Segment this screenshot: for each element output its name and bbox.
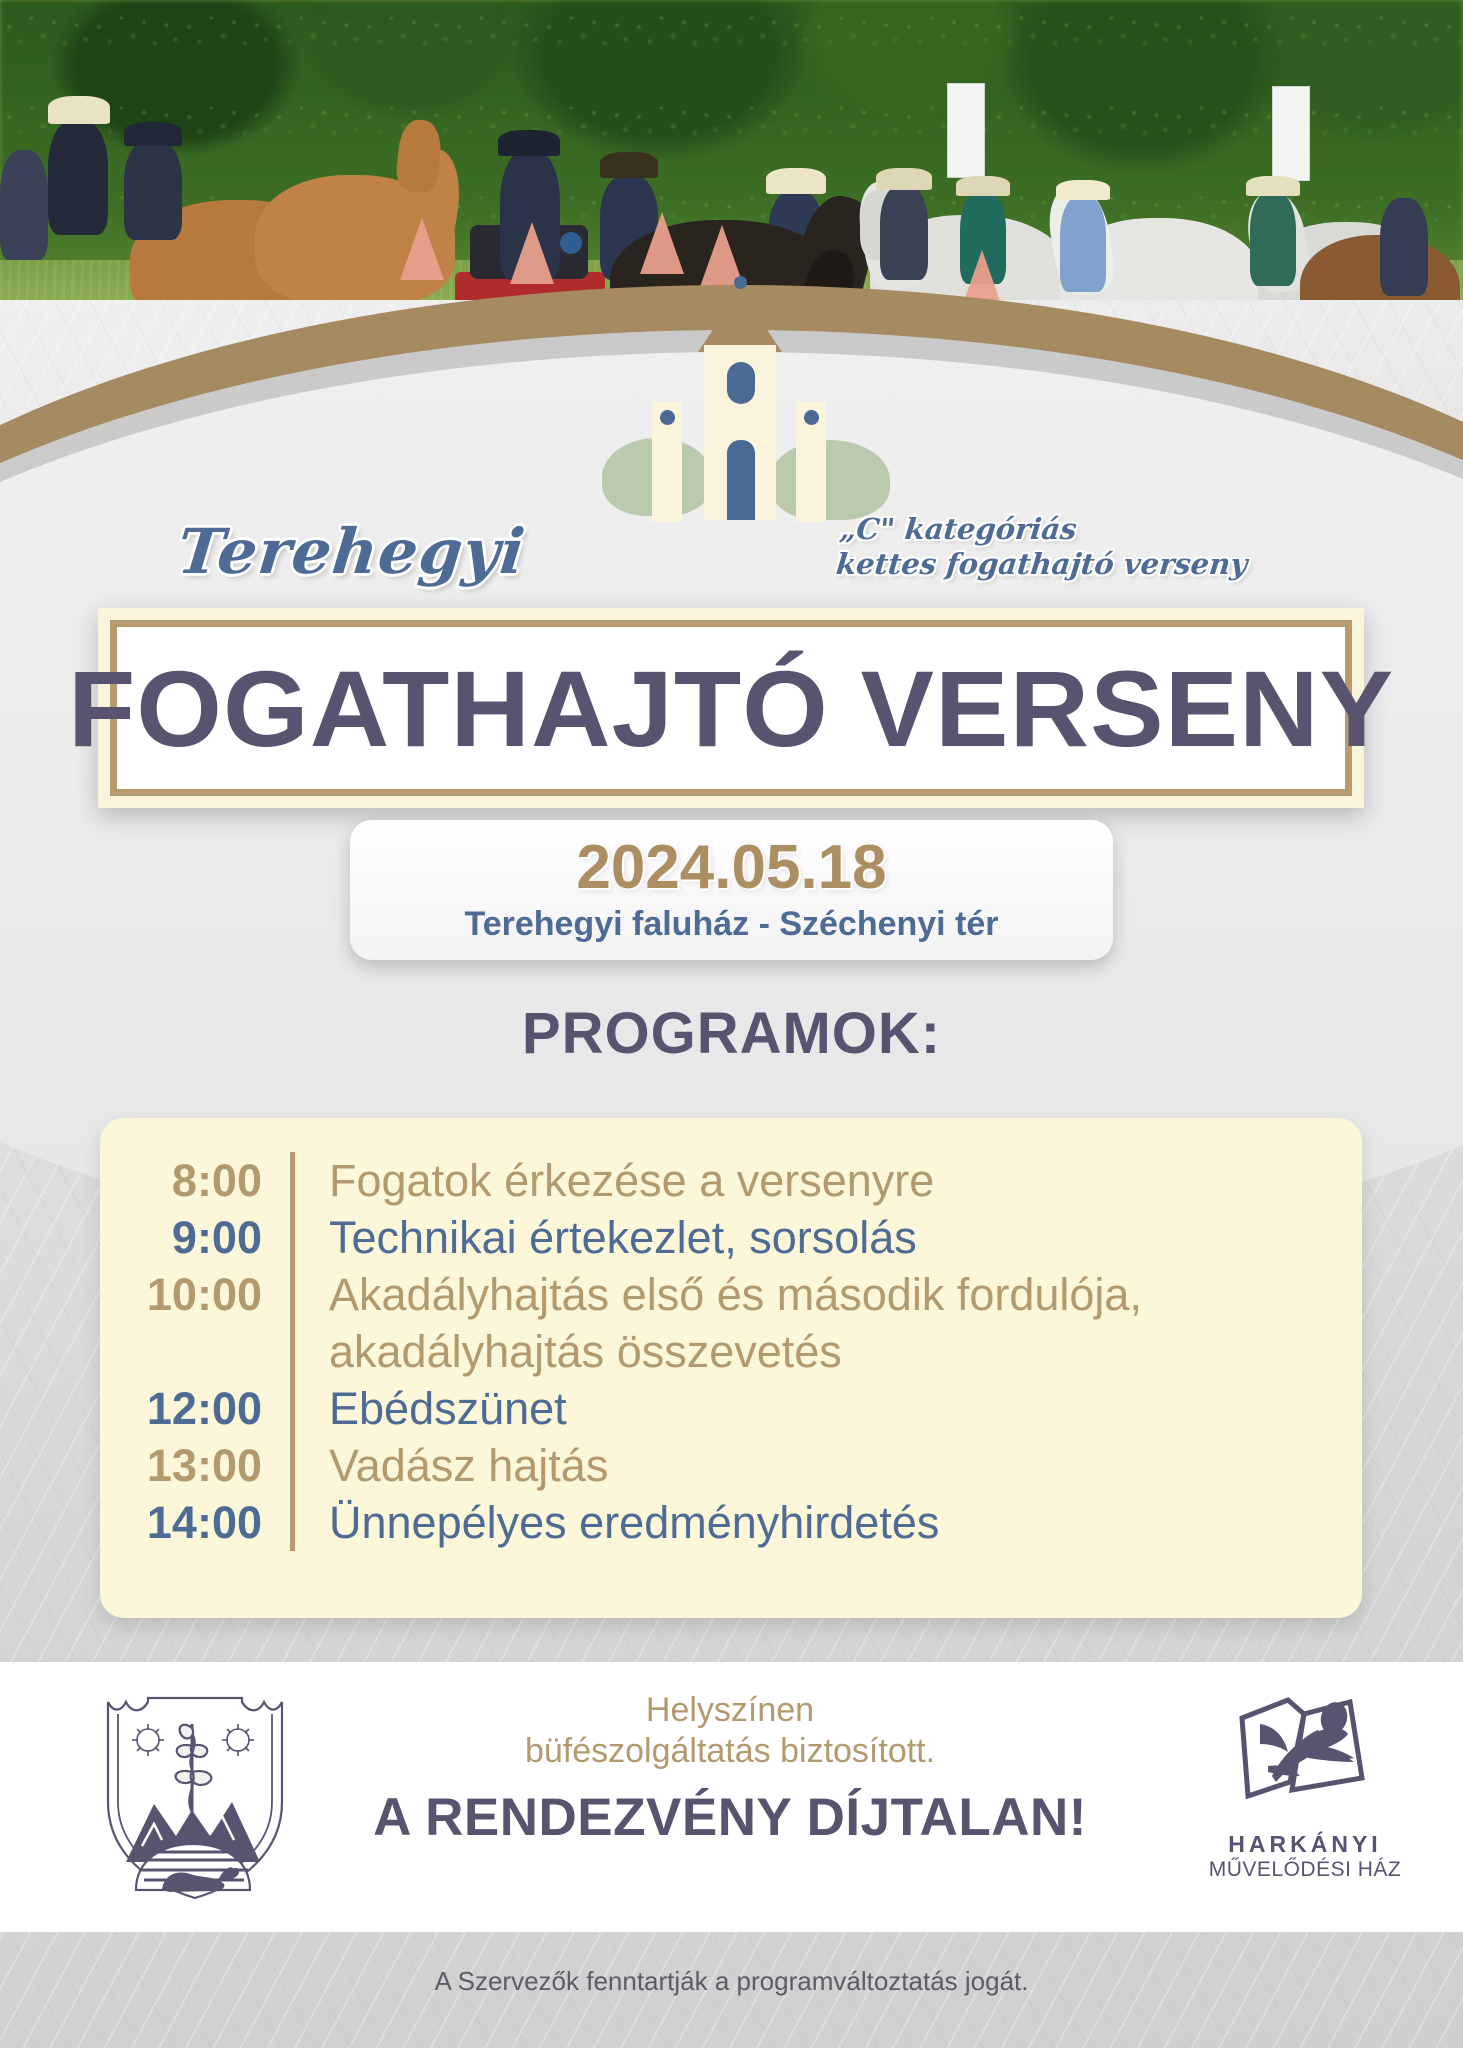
program-heading: PROGRAMOK: xyxy=(0,1000,1463,1067)
spectator-hat-icon xyxy=(876,168,932,190)
driver-hat-icon xyxy=(766,168,826,194)
spectator-hat-icon xyxy=(1056,180,1110,200)
schedule-time: 12:00 xyxy=(110,1380,290,1437)
driver-figure xyxy=(48,120,108,235)
logo-category-line2: kettes fogathajtó verseny xyxy=(834,547,1249,582)
buffet-line2: büfészolgáltatás biztosított. xyxy=(300,1731,1160,1772)
field-banner-icon xyxy=(1272,86,1310,181)
schedule-description: Vadász hajtás xyxy=(295,1437,608,1494)
terehegy-coat-of-arms-icon xyxy=(92,1684,292,1904)
driver-hat-icon xyxy=(498,130,560,156)
schedule-description: Technikai értekezlet, sorsolás xyxy=(295,1209,917,1266)
driver-figure xyxy=(124,140,182,240)
main-title-inner-frame: FOGATHAJTÓ VERSENY xyxy=(110,620,1352,796)
driver-hat-icon xyxy=(48,96,110,124)
logo-category-line1: „C" kategóriás xyxy=(838,512,1253,547)
schedule-row: 13:00 Vadász hajtás xyxy=(100,1437,1362,1494)
bush-decoration xyxy=(770,440,890,520)
schedule-row: 9:00 Technikai értekezlet, sorsolás xyxy=(100,1209,1362,1266)
buffet-line1: Helyszínen xyxy=(300,1690,1160,1731)
spectator-figure xyxy=(1250,192,1296,286)
spectator-figure xyxy=(1060,196,1106,292)
schedule-row: 14:00 Ünnepélyes eredményhirdetés xyxy=(100,1494,1362,1551)
church-side-dot-icon xyxy=(804,410,819,425)
schedule-time: 13:00 xyxy=(110,1437,290,1494)
logo-place-name: Terehegyi xyxy=(174,515,529,588)
church-tower-icon xyxy=(600,290,880,520)
free-entry-text: A RENDEZVÉNY DÍJTALAN! xyxy=(300,1787,1160,1848)
logo-category-text: „C" kategóriás kettes fogathajtó verseny xyxy=(834,512,1252,583)
driver-hat-icon xyxy=(600,152,658,178)
schedule-time: 10:00 xyxy=(110,1266,290,1323)
marker-cone-icon xyxy=(400,218,444,280)
schedule-description: Akadályhajtás első és második fordulója,… xyxy=(295,1266,1142,1380)
church-door-icon xyxy=(727,440,755,520)
church-finial-icon xyxy=(734,276,747,289)
spectator-figure xyxy=(1380,198,1428,296)
schedule-row: 12:00 Ebédszünet xyxy=(100,1380,1362,1437)
schedule-time: 14:00 xyxy=(110,1494,290,1551)
field-banner-icon xyxy=(947,83,985,178)
schedule-row: 10:00 Akadályhajtás első és második ford… xyxy=(100,1266,1362,1380)
footer-center-text: Helyszínen büfészolgáltatás biztosított.… xyxy=(300,1690,1160,1848)
driver-hat-icon xyxy=(124,122,182,146)
event-venue: Terehegyi faluház - Széchenyi tér xyxy=(464,905,998,944)
event-date: 2024.05.18 xyxy=(576,836,886,899)
marker-cone-icon xyxy=(510,222,554,284)
main-title-frame: FOGATHAJTÓ VERSENY xyxy=(98,608,1364,808)
schedule-description: Ünnepélyes eredményhirdetés xyxy=(295,1494,939,1551)
church-window-icon xyxy=(727,362,755,404)
sponsor-subtitle: MŰVELŐDÉSI HÁZ xyxy=(1180,1858,1430,1882)
harkanyi-muvelodesi-haz-logo-icon xyxy=(1230,1690,1380,1820)
sponsor-name: HARKÁNYI xyxy=(1180,1831,1430,1858)
disclaimer-text: A Szervezők fenntartják a programváltozt… xyxy=(0,1966,1463,1997)
program-schedule-card: 8:00 Fogatok érkezése a versenyre 9:00 T… xyxy=(100,1118,1362,1618)
schedule-description: Fogatok érkezése a versenyre xyxy=(295,1152,934,1209)
schedule-row: 8:00 Fogatok érkezése a versenyre xyxy=(100,1152,1362,1209)
field-ball-icon xyxy=(560,232,582,254)
driver-figure xyxy=(0,150,48,260)
church-side-dot-icon xyxy=(660,410,675,425)
date-venue-card: 2024.05.18 Terehegyi faluház - Széchenyi… xyxy=(350,820,1113,960)
schedule-time: 9:00 xyxy=(110,1209,290,1266)
schedule-time: 8:00 xyxy=(110,1152,290,1209)
spectator-hat-icon xyxy=(956,176,1010,196)
church-spire-icon xyxy=(698,290,782,352)
spectator-hat-icon xyxy=(1246,176,1300,196)
page-title: FOGATHAJTÓ VERSENY xyxy=(68,646,1394,771)
spectator-figure xyxy=(880,185,928,280)
marker-cone-icon xyxy=(640,212,684,274)
event-poster: Terehegyi „C" kategóriás kettes fogathaj… xyxy=(0,0,1463,2048)
sponsor-logo-block: HARKÁNYI MŰVELŐDÉSI HÁZ xyxy=(1180,1690,1430,1882)
schedule-description: Ebédszünet xyxy=(295,1380,567,1437)
